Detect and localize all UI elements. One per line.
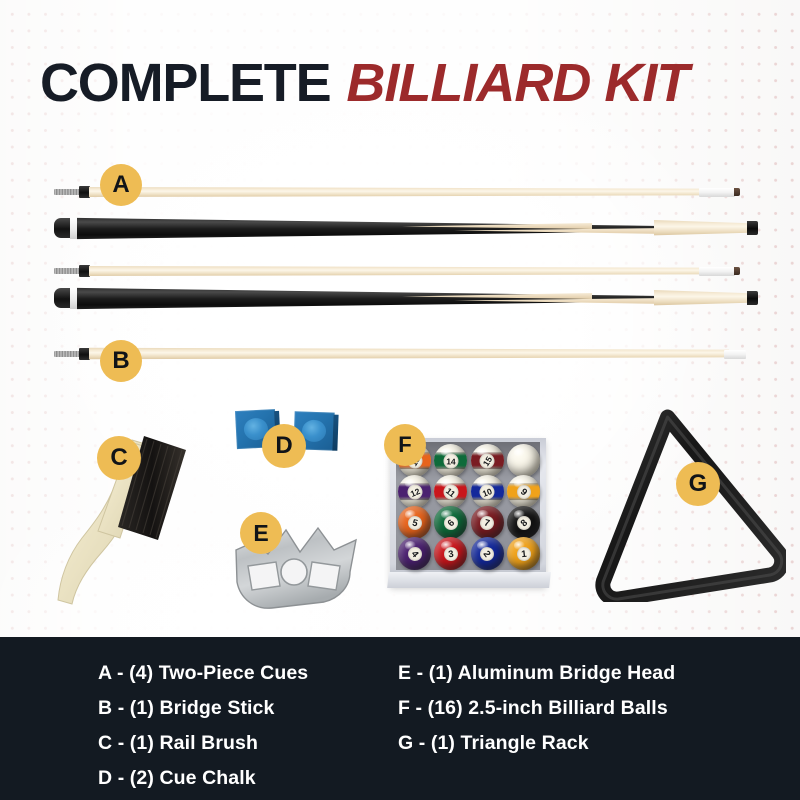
bridge-head-right-cutout: [308, 562, 340, 590]
ball-gloss: [441, 541, 453, 550]
badge-g-triangle-rack: G: [676, 462, 720, 506]
billiard-ball: 8: [507, 506, 540, 539]
cue-butt-row-1: [54, 215, 764, 241]
ball-gloss: [441, 510, 453, 519]
ball-grid: 131415121110956784321: [398, 444, 540, 570]
cue-forearm: [654, 219, 754, 236]
billiard-ball: 6: [434, 506, 467, 539]
billiard-ball: 4: [398, 537, 431, 570]
cue-shaft-row-1: [54, 183, 754, 200]
badge-c-rail-brush: C: [97, 436, 141, 480]
cue-tip: [734, 188, 740, 196]
cue-butt-row-2: [54, 285, 764, 311]
joint-collar: [79, 186, 90, 198]
legend-bar: A - (4) Two-Piece CuesB - (1) Bridge Sti…: [0, 637, 800, 800]
triangle-rack: [576, 402, 786, 602]
triangle-rack-icon: [576, 402, 786, 602]
badge-e-bridge-head: E: [240, 512, 282, 554]
billiard-ball: [507, 444, 540, 477]
cue-shaft: [89, 186, 701, 198]
badge-d-cue-chalk: D: [262, 424, 306, 468]
billiard-ball: 11: [434, 475, 467, 508]
billiard-ball: 5: [398, 506, 431, 539]
ball-gloss: [441, 479, 453, 488]
cue-shaft: [89, 265, 701, 277]
cue-black-collar: [747, 221, 758, 235]
cue-ferrule: [699, 267, 735, 276]
bridge-stick: [54, 345, 754, 363]
legend-columns: A - (4) Two-Piece CuesB - (1) Bridge Sti…: [0, 637, 800, 800]
infographic-canvas: COMPLETE BILLIARD KIT: [0, 0, 800, 800]
legend-item: D - (2) Cue Chalk: [98, 764, 398, 793]
joint-collar: [79, 265, 90, 277]
billiard-ball: 7: [471, 506, 504, 539]
legend-item: B - (1) Bridge Stick: [98, 694, 398, 723]
billiard-ball: 15: [471, 444, 504, 477]
badge-b-bridge-stick: B: [100, 340, 142, 382]
billiard-ball: 10: [471, 475, 504, 508]
billiard-ball: 2: [471, 537, 504, 570]
cue-ferrule: [699, 188, 735, 197]
bridge-stick-shaft: [89, 347, 729, 360]
bridge-head-center-hole: [281, 559, 307, 585]
cue-tip: [734, 267, 740, 275]
legend-item: E - (1) Aluminum Bridge Head: [398, 659, 728, 688]
cue-black-collar: [747, 291, 758, 305]
badge-f-billiard-balls: F: [384, 424, 426, 466]
legend-item: F - (16) 2.5-inch Billiard Balls: [398, 694, 728, 723]
billiard-ball: 3: [434, 537, 467, 570]
joint-collar: [79, 348, 90, 360]
bridge-head-left-cutout: [248, 562, 280, 590]
legend-column-right: E - (1) Aluminum Bridge HeadF - (16) 2.5…: [398, 659, 728, 800]
cue-forearm: [654, 289, 754, 306]
legend-column-left: A - (4) Two-Piece CuesB - (1) Bridge Sti…: [98, 659, 398, 800]
ball-gloss: [441, 448, 453, 457]
legend-item: C - (1) Rail Brush: [98, 729, 398, 758]
billiard-ball: 9: [507, 475, 540, 508]
billiard-ball: 14: [434, 444, 467, 477]
joint-pin-icon: [54, 268, 80, 274]
ball-gloss: [514, 448, 526, 457]
badge-a-cues: A: [100, 164, 142, 206]
billiard-balls-box: 131415121110956784321 F: [388, 432, 554, 592]
joint-pin-icon: [54, 351, 80, 357]
billiard-ball: 1: [507, 537, 540, 570]
title-main: COMPLETE: [40, 56, 330, 110]
cue-shaft-row-2: [54, 262, 754, 279]
legend-item: A - (4) Two-Piece Cues: [98, 659, 398, 688]
billiard-ball: 12: [398, 475, 431, 508]
box-front-lip: [387, 572, 551, 588]
title-accent: BILLIARD KIT: [346, 56, 688, 110]
page-title: COMPLETE BILLIARD KIT: [40, 52, 770, 114]
legend-item: G - (1) Triangle Rack: [398, 729, 728, 758]
joint-pin-icon: [54, 189, 80, 195]
bridge-stick-ferrule: [724, 350, 746, 359]
